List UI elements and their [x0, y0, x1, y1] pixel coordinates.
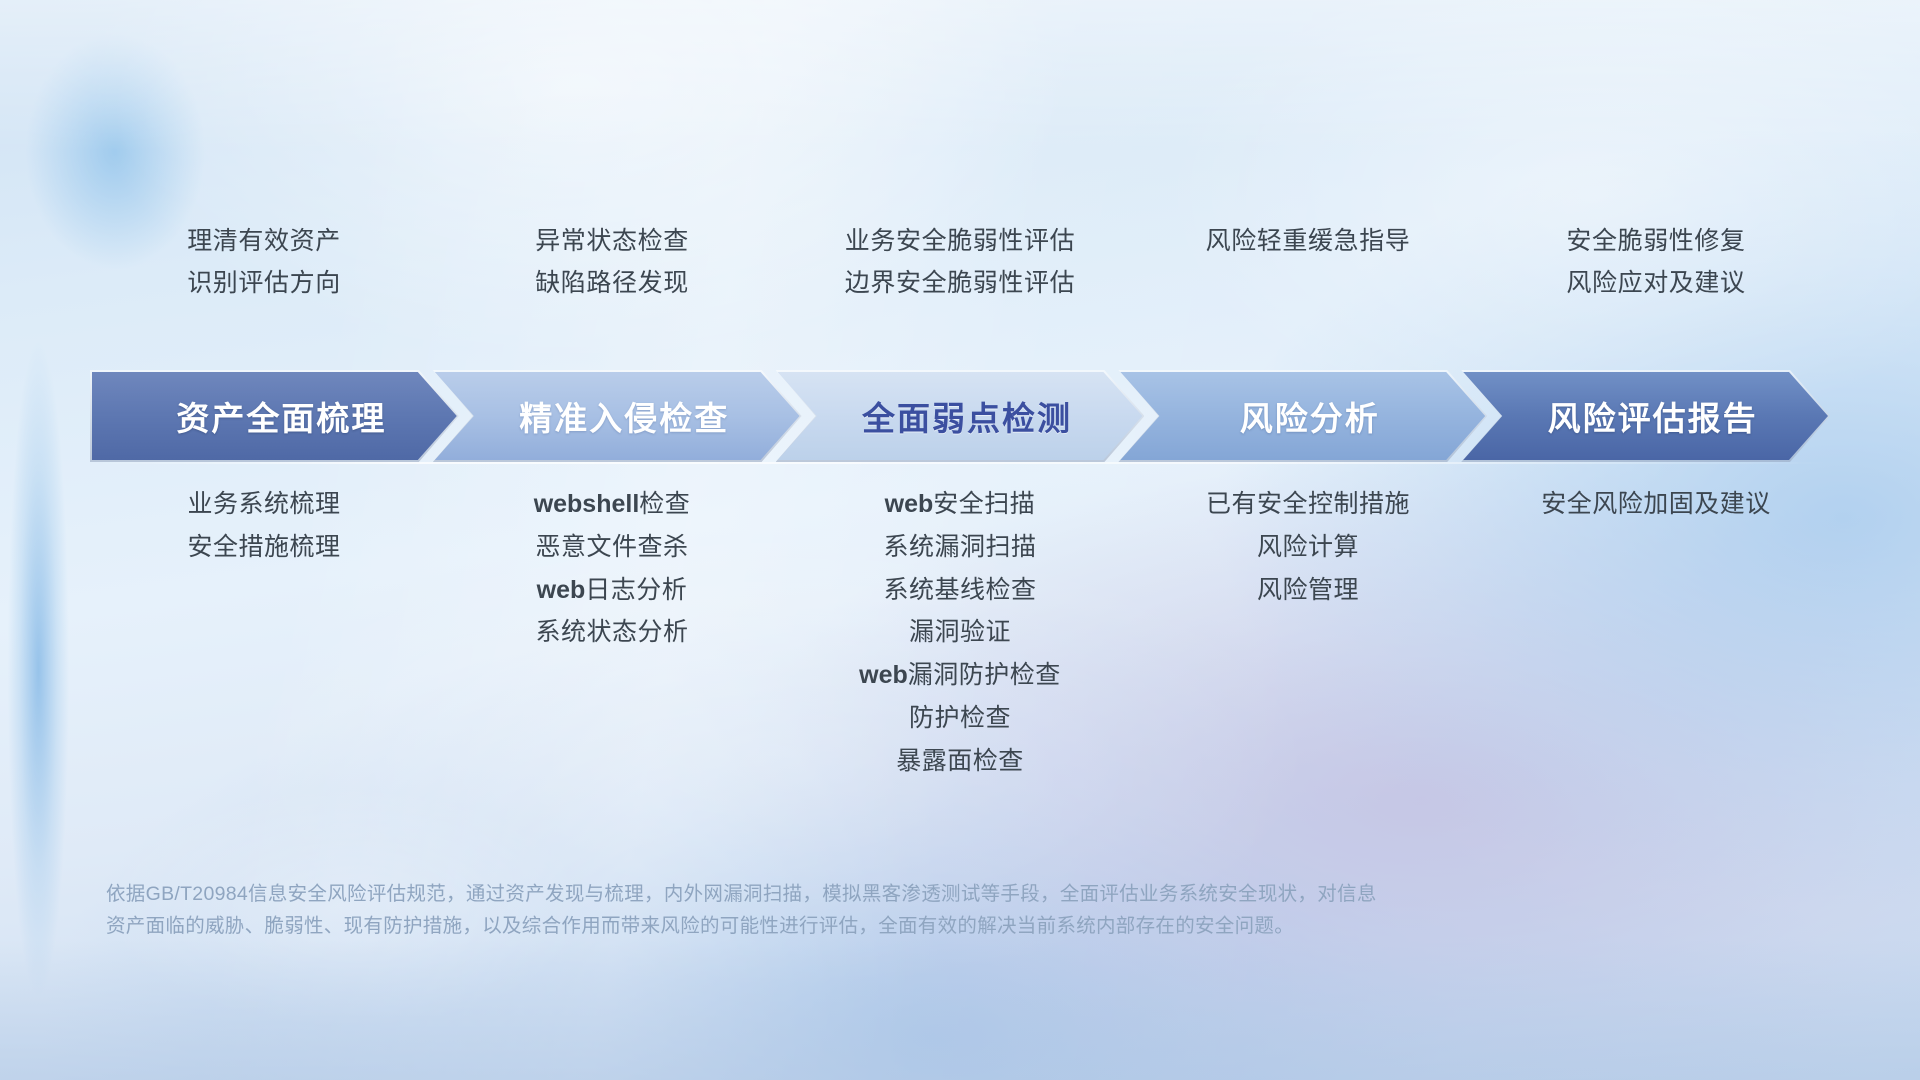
list-item-label: 风险管理 [1257, 576, 1359, 604]
top-descriptor-row: 理清有效资产 识别评估方向 异常状态检查 缺陷路径发现 业务安全脆弱性评估 边界… [90, 228, 1830, 338]
chevron-label: 资产全面梳理 [162, 392, 386, 440]
list-item-prefix: web [885, 490, 934, 518]
list-item-prefix: web [859, 661, 908, 689]
footer-description: 依据GB/T20984信息安全风险评估规范，通过资产发现与梳理，内外网漏洞扫描，… [106, 878, 1626, 942]
list-item: web安全扫描 [885, 490, 1036, 519]
slide-canvas: 理清有效资产 识别评估方向 异常状态检查 缺陷路径发现 业务安全脆弱性评估 边界… [0, 0, 1920, 1080]
list-item-label: 系统状态分析 [535, 618, 688, 646]
bottom-column-asset-inventory: 业务系统梳理 安全措施梳理 [90, 490, 438, 562]
bottom-column-intrusion-check: webshell检查 恶意文件查杀 web日志分析 系统状态分析 [438, 490, 786, 647]
list-item: web日志分析 [537, 576, 688, 605]
list-item-label: 已有安全控制措施 [1206, 490, 1410, 518]
chevron-label: 风险评估报告 [1534, 392, 1758, 440]
list-item: 风险计算 [1257, 533, 1359, 562]
list-item-prefix: webshell [534, 490, 640, 518]
list-item: 暴露面检查 [896, 747, 1024, 776]
top-line: 识别评估方向 [187, 270, 341, 298]
chevron-step-weakness-detection[interactable]: 全面弱点检测 [776, 370, 1145, 462]
bottom-column-weakness-detection: web安全扫描 系统漏洞扫描 系统基线检查 漏洞验证 web漏洞防护检查 防护检… [786, 490, 1134, 775]
list-item-label: 防护检查 [909, 704, 1011, 732]
list-item-label: 恶意文件查杀 [535, 533, 688, 561]
list-item: 业务系统梳理 [187, 490, 340, 519]
chevron-step-asset-inventory[interactable]: 资产全面梳理 [90, 370, 459, 462]
list-item-label: 安全扫描 [933, 490, 1035, 518]
list-item-label: 漏洞防护检查 [908, 661, 1061, 689]
bottom-column-risk-report: 安全风险加固及建议 [1482, 490, 1830, 519]
list-item: 安全风险加固及建议 [1541, 490, 1771, 519]
top-line: 业务安全脆弱性评估 [845, 228, 1075, 256]
bottom-column-risk-analysis: 已有安全控制措施 风险计算 风险管理 [1134, 490, 1482, 604]
list-item: web漏洞防护检查 [859, 661, 1061, 690]
list-item: 漏洞验证 [909, 618, 1011, 647]
list-item: 恶意文件查杀 [535, 533, 688, 562]
list-item-label: 漏洞验证 [909, 618, 1011, 646]
chevron-label: 精准入侵检查 [505, 392, 729, 440]
list-item-prefix: web [537, 576, 586, 604]
top-line: 异常状态检查 [535, 228, 689, 256]
list-item: 安全措施梳理 [187, 533, 340, 562]
list-item-label: 暴露面检查 [896, 747, 1024, 775]
chevron-label: 全面弱点检测 [848, 392, 1072, 440]
footer-line-2: 资产面临的威胁、脆弱性、现有防护措施，以及综合作用而带来风险的可能性进行评估，全… [106, 910, 1626, 942]
top-column-asset-inventory: 理清有效资产 识别评估方向 [90, 228, 438, 338]
ribbon-underline [90, 462, 1830, 464]
list-item-label: 风险计算 [1257, 533, 1359, 561]
list-item: 系统状态分析 [535, 618, 688, 647]
top-line: 缺陷路径发现 [535, 270, 689, 298]
chevron-step-risk-report[interactable]: 风险评估报告 [1461, 370, 1830, 462]
list-item: 风险管理 [1257, 576, 1359, 605]
list-item-label: 安全措施梳理 [187, 533, 340, 561]
top-line: 风险应对及建议 [1566, 270, 1745, 298]
list-item-label: 安全风险加固及建议 [1541, 490, 1771, 518]
top-line: 安全脆弱性修复 [1566, 228, 1745, 256]
bottom-detail-row: 业务系统梳理 安全措施梳理 webshell检查 恶意文件查杀 web日志分析 … [90, 490, 1830, 775]
top-line: 理清有效资产 [187, 228, 341, 256]
list-item: 系统漏洞扫描 [883, 533, 1036, 562]
top-line: 边界安全脆弱性评估 [845, 270, 1075, 298]
top-line: 风险轻重缓急指导 [1206, 228, 1411, 256]
list-item-label: 系统漏洞扫描 [883, 533, 1036, 561]
list-item-label: 业务系统梳理 [187, 490, 340, 518]
top-column-intrusion-check: 异常状态检查 缺陷路径发现 [438, 228, 786, 338]
list-item: 已有安全控制措施 [1206, 490, 1410, 519]
footer-line-1: 依据GB/T20984信息安全风险评估规范，通过资产发现与梳理，内外网漏洞扫描，… [106, 878, 1626, 910]
list-item: 系统基线检查 [883, 576, 1036, 605]
top-column-risk-report: 安全脆弱性修复 风险应对及建议 [1482, 228, 1830, 338]
top-column-weakness-detection: 业务安全脆弱性评估 边界安全脆弱性评估 [786, 228, 1134, 338]
process-chevron-ribbon: 资产全面梳理 精准入侵检查 全面弱点检测 风险分析 风险评估报告 [90, 370, 1830, 462]
chevron-step-risk-analysis[interactable]: 风险分析 [1118, 370, 1487, 462]
list-item: webshell检查 [534, 490, 691, 519]
top-column-risk-analysis: 风险轻重缓急指导 [1134, 228, 1482, 338]
chevron-step-intrusion-check[interactable]: 精准入侵检查 [433, 370, 802, 462]
slide-content: 理清有效资产 识别评估方向 异常状态检查 缺陷路径发现 业务安全脆弱性评估 边界… [0, 0, 1920, 1080]
list-item-label: 系统基线检查 [883, 576, 1036, 604]
list-item: 防护检查 [909, 704, 1011, 733]
list-item-label: 日志分析 [585, 576, 687, 604]
list-item-label: 检查 [639, 490, 690, 518]
chevron-label: 风险分析 [1226, 392, 1380, 440]
